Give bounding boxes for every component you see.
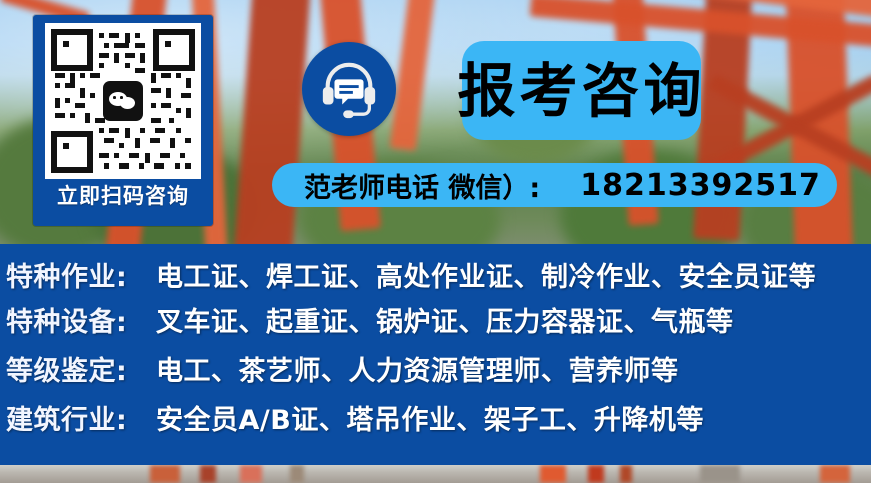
contact-phone-pill[interactable]: 范老师电话 微信）: 18213392517	[272, 163, 837, 207]
list-item-value: 叉车证、起重证、锅炉证、压力容器证、气瓶等	[156, 300, 734, 339]
headset-icon-circle[interactable]	[302, 42, 396, 136]
contact-label: 范老师电话 微信）:	[304, 166, 540, 205]
wechat-logo	[103, 81, 143, 121]
list-item: 建筑行业: 安全员A/B证、塔吊作业、架子工、升降机等	[0, 398, 871, 443]
qr-modules	[51, 29, 195, 173]
list-item: 等级鉴定: 电工、茶艺师、人力资源管理师、营养师等	[0, 349, 871, 394]
list-item: 特种作业: 电工证、焊工证、高处作业证、制冷作业、安全员证等	[0, 255, 871, 300]
contact-phone-number[interactable]: 18213392517	[580, 168, 821, 203]
list-item: 特种设备: 叉车证、起重证、锅炉证、压力容器证、气瓶等	[0, 300, 871, 345]
list-item-value: 电工证、焊工证、高处作业证、制冷作业、安全员证等	[156, 255, 816, 294]
qr-finder-top-left	[51, 29, 93, 71]
qr-code-card[interactable]: 立即扫码咨询	[33, 15, 213, 226]
list-item-label: 建筑行业:	[6, 398, 156, 437]
list-item-label: 特种设备:	[6, 300, 156, 339]
certificate-list-panel: 特种作业: 电工证、焊工证、高处作业证、制冷作业、安全员证等 特种设备: 叉车证…	[0, 244, 871, 465]
apply-consult-label: 报考咨询	[458, 62, 706, 120]
list-item-label: 特种作业:	[6, 255, 156, 294]
bottom-photo-strip	[0, 465, 871, 483]
qr-finder-top-right	[153, 29, 195, 71]
headset-chat-icon	[318, 58, 380, 120]
qr-finder-bottom-left	[51, 131, 93, 173]
qr-code-image[interactable]	[45, 23, 201, 179]
apply-consult-pill[interactable]: 报考咨询	[462, 41, 701, 140]
list-item-label: 等级鉴定:	[6, 349, 156, 388]
list-item-value: 安全员A/B证、塔吊作业、架子工、升降机等	[156, 398, 704, 437]
qr-caption: 立即扫码咨询	[37, 179, 209, 213]
promo-banner: 立即扫码咨询 报考咨询 范老师电话 微信）: 18213392517 特种作业:…	[0, 0, 871, 483]
list-item-value: 电工、茶艺师、人力资源管理师、营养师等	[156, 349, 679, 388]
